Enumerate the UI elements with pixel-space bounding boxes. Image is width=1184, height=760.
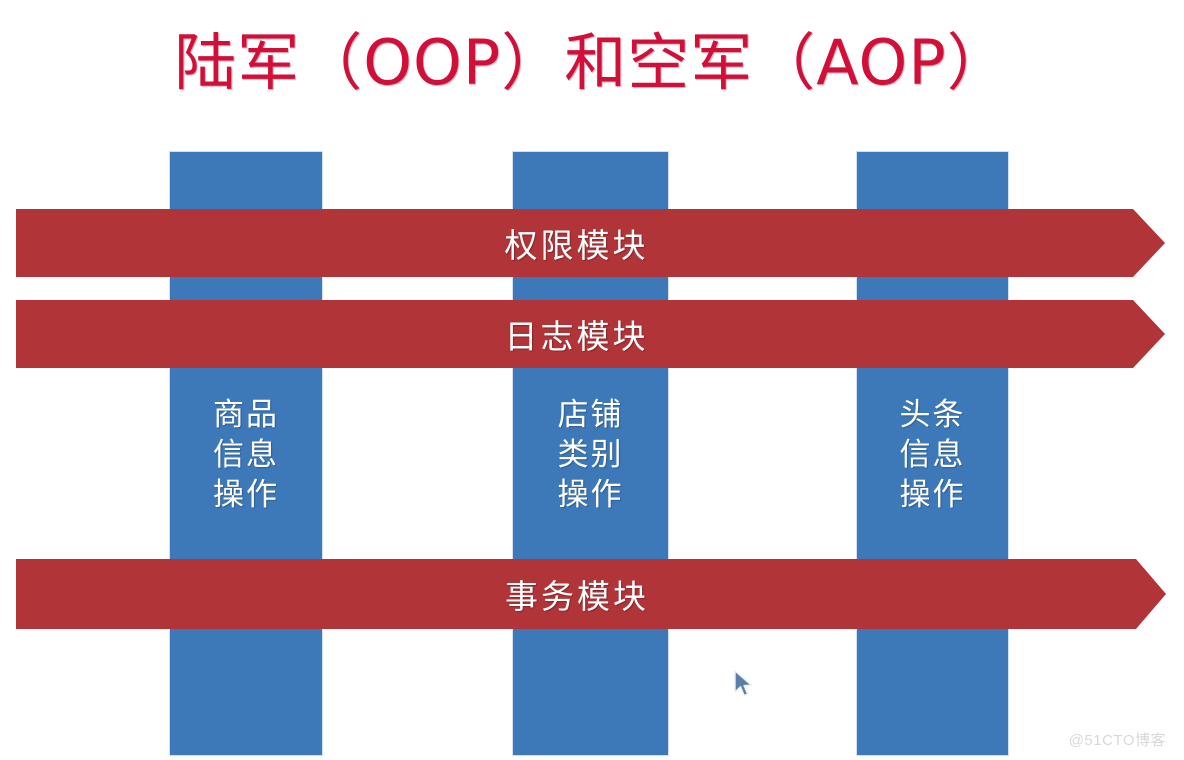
- slide-canvas: 陆军（OOP）和空军（AOP） 商品 信息 操作 店铺 类别 操作 头条 信息 …: [0, 0, 1184, 760]
- column-line: 头条: [857, 395, 1008, 435]
- column-line: 信息: [170, 435, 322, 475]
- oop-column-product-label: 商品 信息 操作: [170, 395, 322, 515]
- oop-column-headline-label: 头条 信息 操作: [857, 395, 1008, 515]
- column-line: 操作: [170, 475, 322, 515]
- aop-bar-transaction: 事务模块: [16, 559, 1166, 629]
- aop-bar-permission-label: 权限模块: [505, 219, 649, 267]
- page-title: 陆军（OOP）和空军（AOP）: [0, 26, 1184, 100]
- aop-bar-log: 日志模块: [16, 300, 1165, 368]
- column-line: 信息: [857, 435, 1008, 475]
- column-line: 店铺: [513, 395, 668, 435]
- column-line: 类别: [513, 435, 668, 475]
- column-line: 操作: [513, 475, 668, 515]
- aop-bar-transaction-label: 事务模块: [505, 570, 649, 618]
- aop-bar-log-label: 日志模块: [505, 310, 649, 358]
- oop-column-shop-label: 店铺 类别 操作: [513, 395, 668, 515]
- mouse-pointer-icon: [733, 670, 755, 700]
- column-line: 商品: [170, 395, 322, 435]
- aop-bar-permission: 权限模块: [16, 209, 1165, 277]
- watermark-label: @51CTO博客: [1069, 729, 1166, 750]
- column-line: 操作: [857, 475, 1008, 515]
